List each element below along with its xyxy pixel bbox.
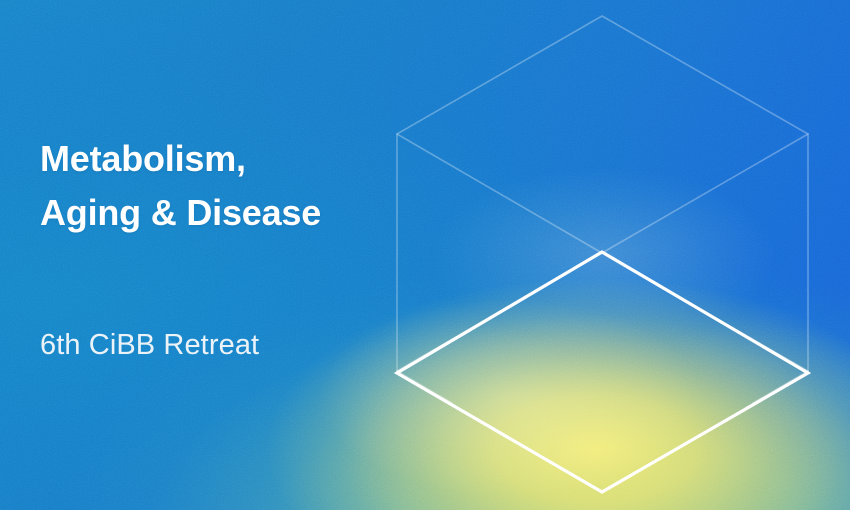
background-green-wash	[0, 0, 850, 510]
background-bloom-highlight	[0, 0, 850, 510]
page-title: Metabolism, Aging & Disease	[40, 132, 420, 240]
bright-diamond-outline	[397, 252, 808, 492]
event-banner: Metabolism, Aging & Disease 6th CiBB Ret…	[0, 0, 850, 510]
cube-bottom-right-stub	[753, 371, 808, 403]
cube-lower-left-diagonal	[397, 253, 602, 371]
background-yellow-glow	[0, 0, 850, 510]
film-grain-texture	[0, 0, 850, 510]
event-subtitle: 6th CiBB Retreat	[40, 326, 259, 364]
background-blue-pool	[0, 0, 850, 510]
cube-lower-right-diagonal	[602, 253, 808, 371]
isometric-cube-graphic	[0, 0, 850, 510]
headline-block: Metabolism, Aging & Disease	[40, 132, 420, 240]
cube-bottom-left-stub	[397, 371, 452, 403]
faint-cube-group	[397, 16, 808, 403]
cube-top-face-outline	[397, 16, 808, 253]
background-base-gradient	[0, 0, 850, 510]
background-cross-light	[0, 0, 850, 510]
